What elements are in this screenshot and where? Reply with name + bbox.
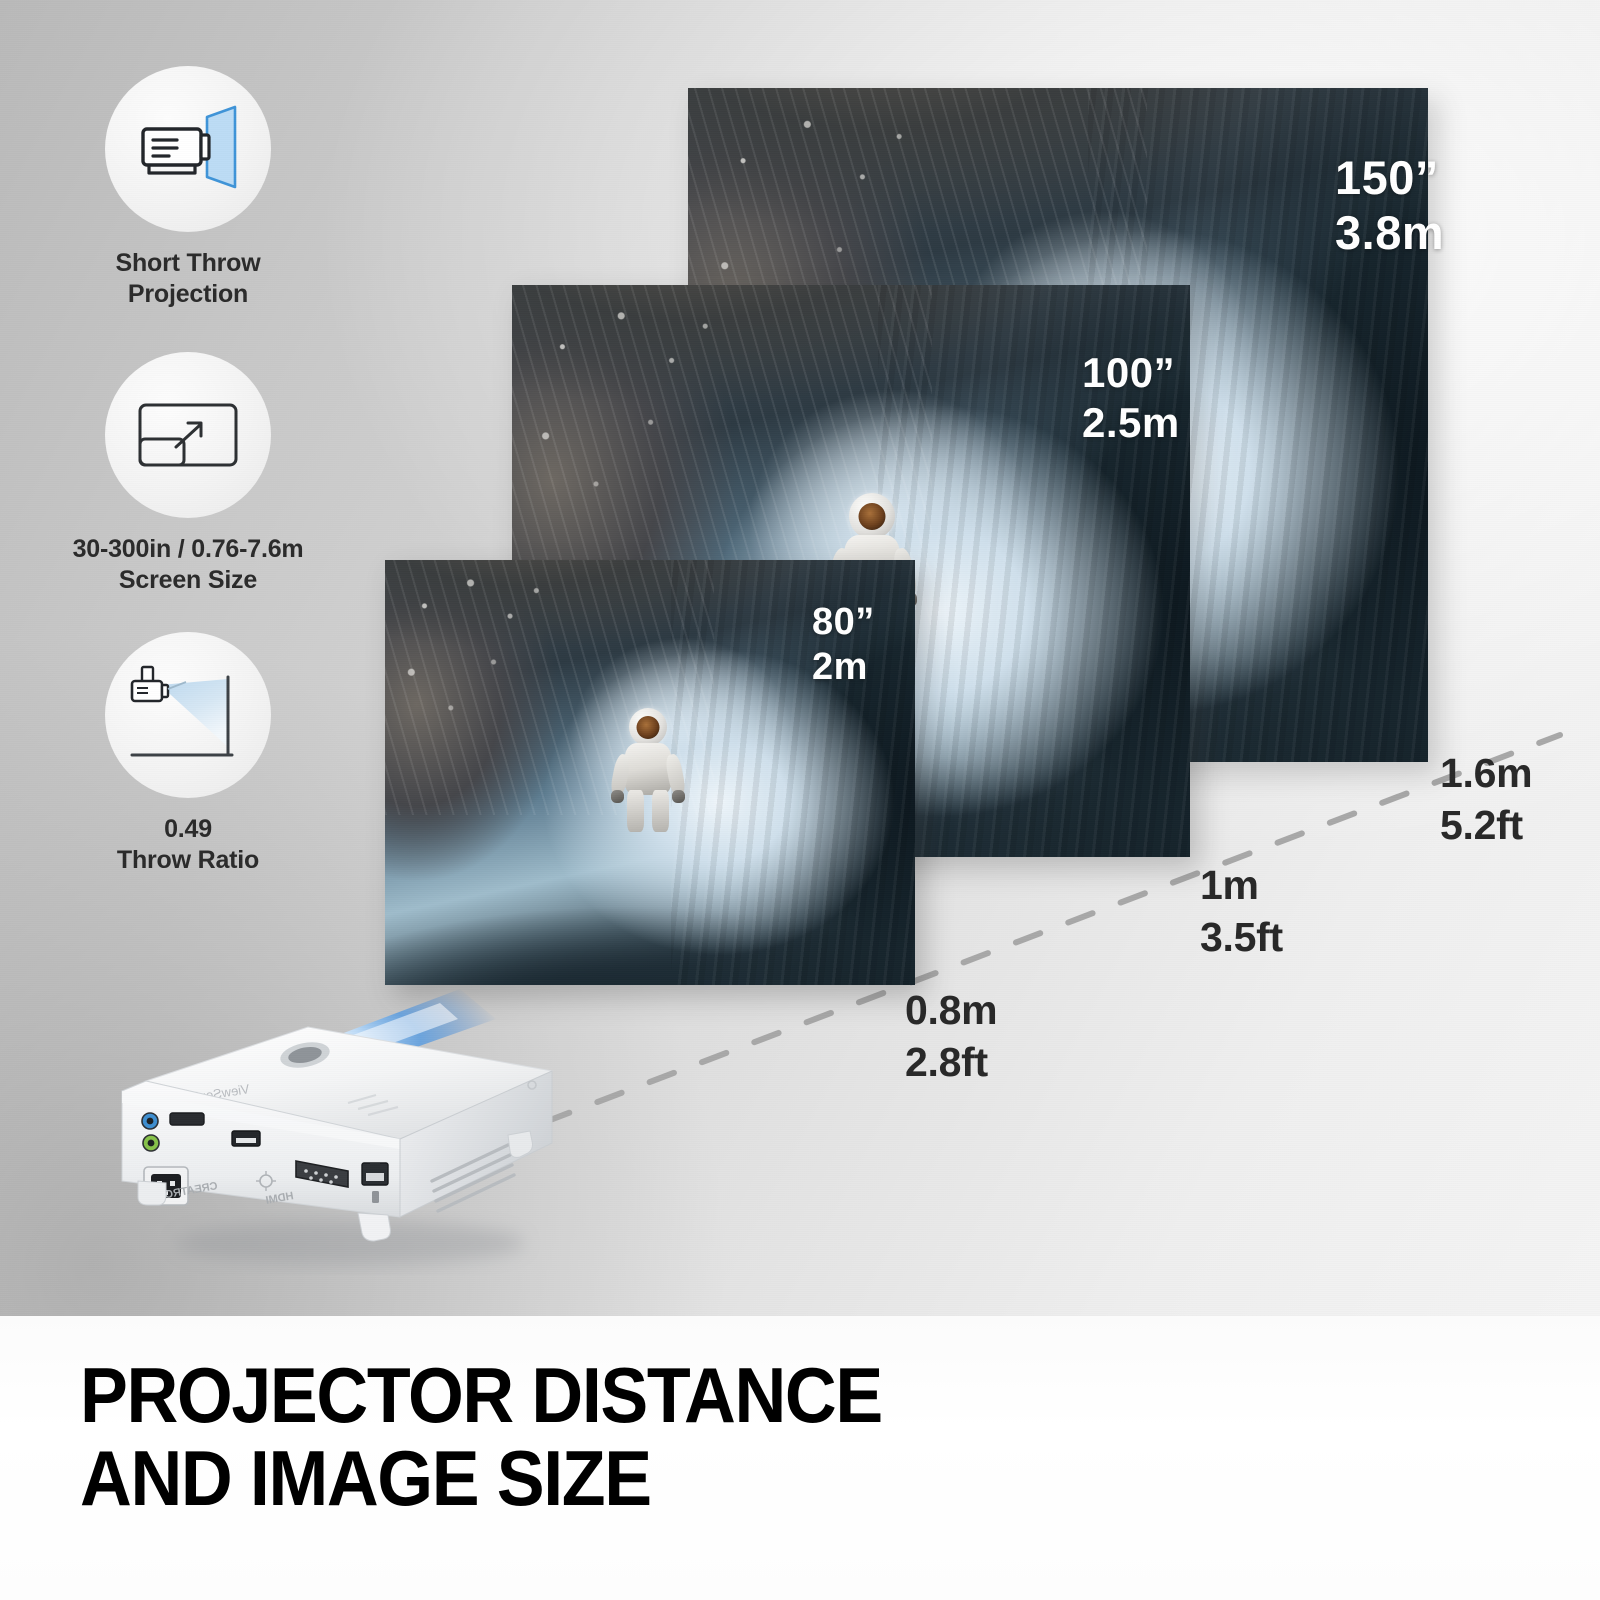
distance-label-1: 1m3.5ft [1200,860,1283,963]
feature-throw-ratio: 0.49Throw Ratio [28,632,348,875]
feature-label-line1: Short Throw [115,249,260,277]
astronaut-leg-left [627,790,644,832]
screen-diagonal-100: 100” [1082,349,1175,396]
screen-resize-icon [132,395,244,475]
astronaut-visor [637,716,660,739]
astronaut-torso [625,743,671,795]
infographic-stage: 150”3.8m 100”2.5m [0,0,1600,1316]
headline-line1: PROJECTOR DISTANCE [80,1351,882,1439]
distance-metric-0: 0.8m [905,987,997,1033]
astronaut-glove-right [672,790,685,803]
screen-diagonal-80: 80” [812,601,875,643]
astronaut-glove-left [611,790,624,803]
page-headline: PROJECTOR DISTANCEAND IMAGE SIZE [80,1354,882,1519]
screen-metric-80: 2m [812,646,868,688]
feature-label: 0.49Throw Ratio [28,814,348,875]
screen-metric-100: 2.5m [1082,399,1180,446]
astronaut-leg-right [652,790,669,832]
distance-imperial-1: 3.5ft [1200,914,1283,960]
feature-label: 30-300in / 0.76-7.6mScreen Size [28,534,348,595]
distance-label-0: 0.8m2.8ft [905,985,997,1088]
feature-icon-circle [105,632,271,798]
feature-screen-size: 30-300in / 0.76-7.6mScreen Size [28,352,348,595]
feature-label-line2: Projection [128,280,248,308]
title-bar: PROJECTOR DISTANCEAND IMAGE SIZE [0,1316,1600,1600]
feature-label-line2: Throw Ratio [117,846,259,874]
feature-label-line1: 30-300in / 0.76-7.6m [73,535,304,563]
feature-label: Short ThrowProjection [28,248,348,309]
feature-short-throw: Short ThrowProjection [28,66,348,309]
distance-metric-1: 1m [1200,862,1259,908]
projector-beam-icon [129,103,247,195]
throw-ratio-icon [126,663,250,767]
screen-diagonal-150: 150” [1335,151,1439,204]
astronaut-visor [859,503,886,530]
headline-line2: AND IMAGE SIZE [80,1434,651,1522]
distance-imperial-2: 5.2ft [1440,802,1523,848]
screen-metric-150: 3.8m [1335,206,1444,259]
feature-label-line1: 0.49 [164,815,212,843]
distance-label-2: 1.6m5.2ft [1440,748,1532,851]
feature-icon-circle [105,66,271,232]
projector-illustration: ViewSonic [100,985,570,1275]
feature-icon-circle [105,352,271,518]
feature-label-line2: Screen Size [119,566,257,594]
projector-device: ViewSonic [100,985,570,1275]
screen-size-caption-100: 100”2.5m [1082,348,1180,447]
distance-metric-2: 1.6m [1440,750,1532,796]
distance-imperial-0: 2.8ft [905,1039,988,1085]
screen-size-caption-150: 150”3.8m [1335,150,1444,261]
astronaut-figure [615,708,681,832]
screen-size-caption-80: 80”2m [812,600,875,690]
